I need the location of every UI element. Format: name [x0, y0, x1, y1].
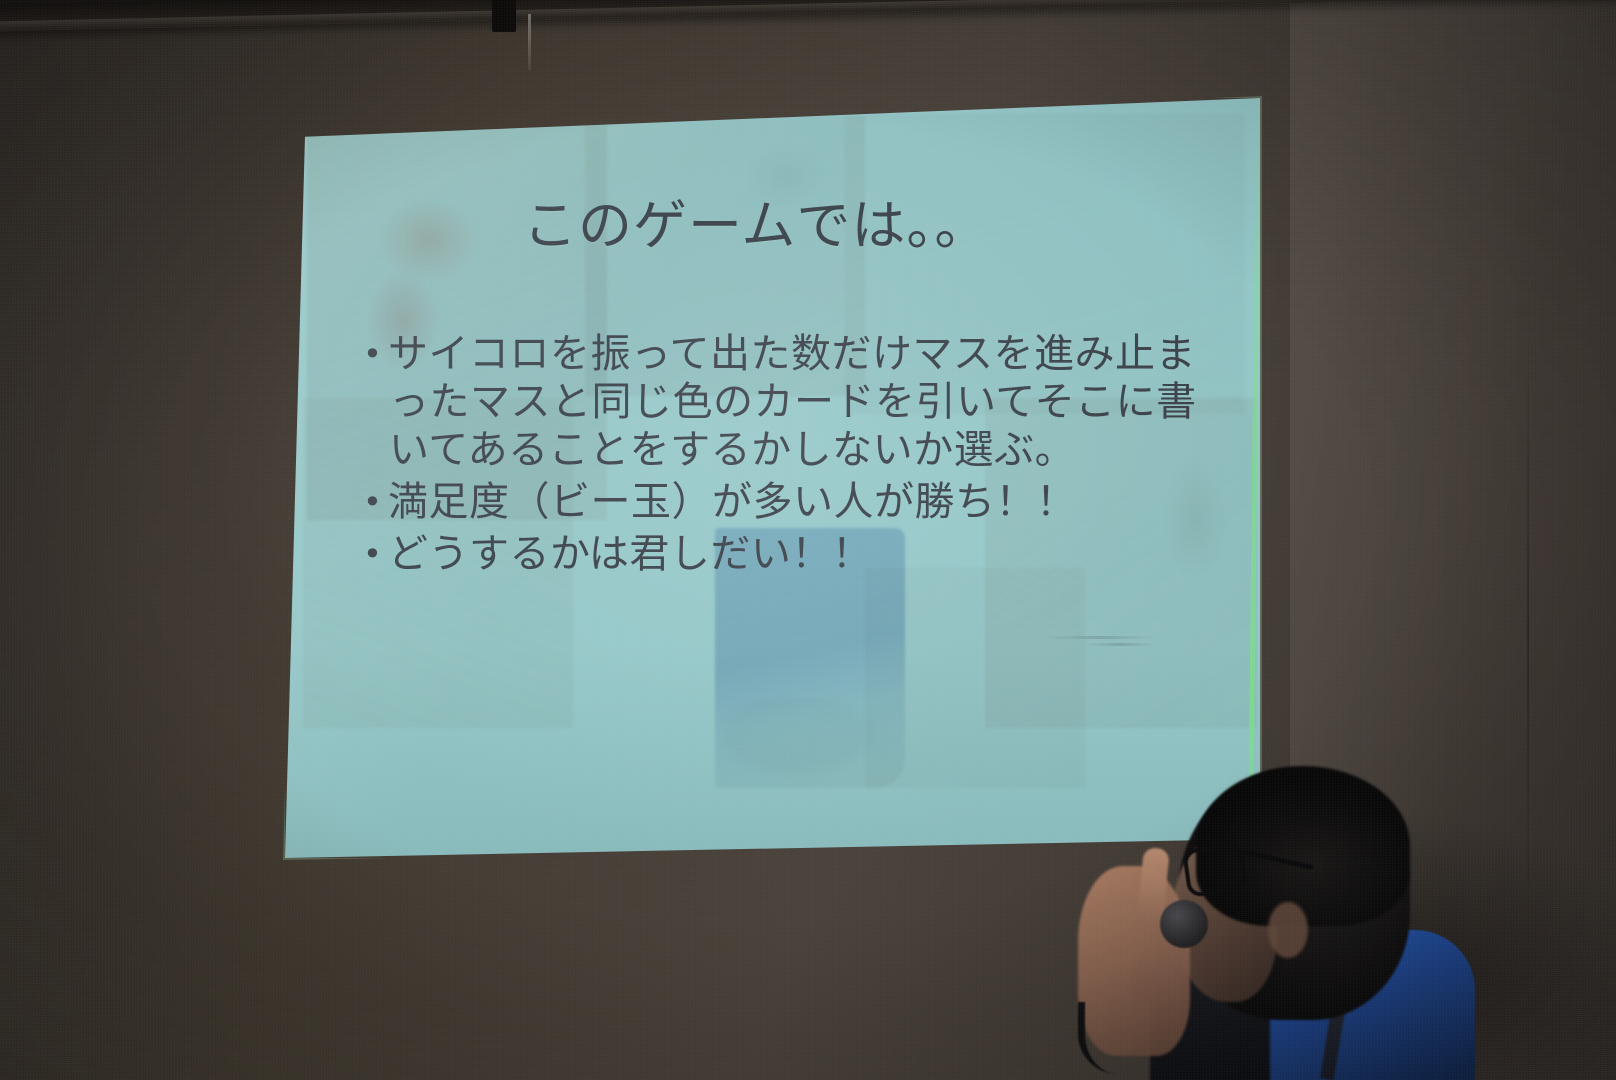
- ceiling-beam-bracket: [492, 0, 516, 32]
- presentation-room-photo: このゲームでは。。 • サイコロを振って出た数だけマスを進み止まったマスと同じ色…: [0, 0, 1616, 1080]
- ceiling-hanging-cord: [528, 14, 531, 70]
- wall-right-panel: [1290, 0, 1616, 1080]
- wall-seam: [1527, 330, 1529, 950]
